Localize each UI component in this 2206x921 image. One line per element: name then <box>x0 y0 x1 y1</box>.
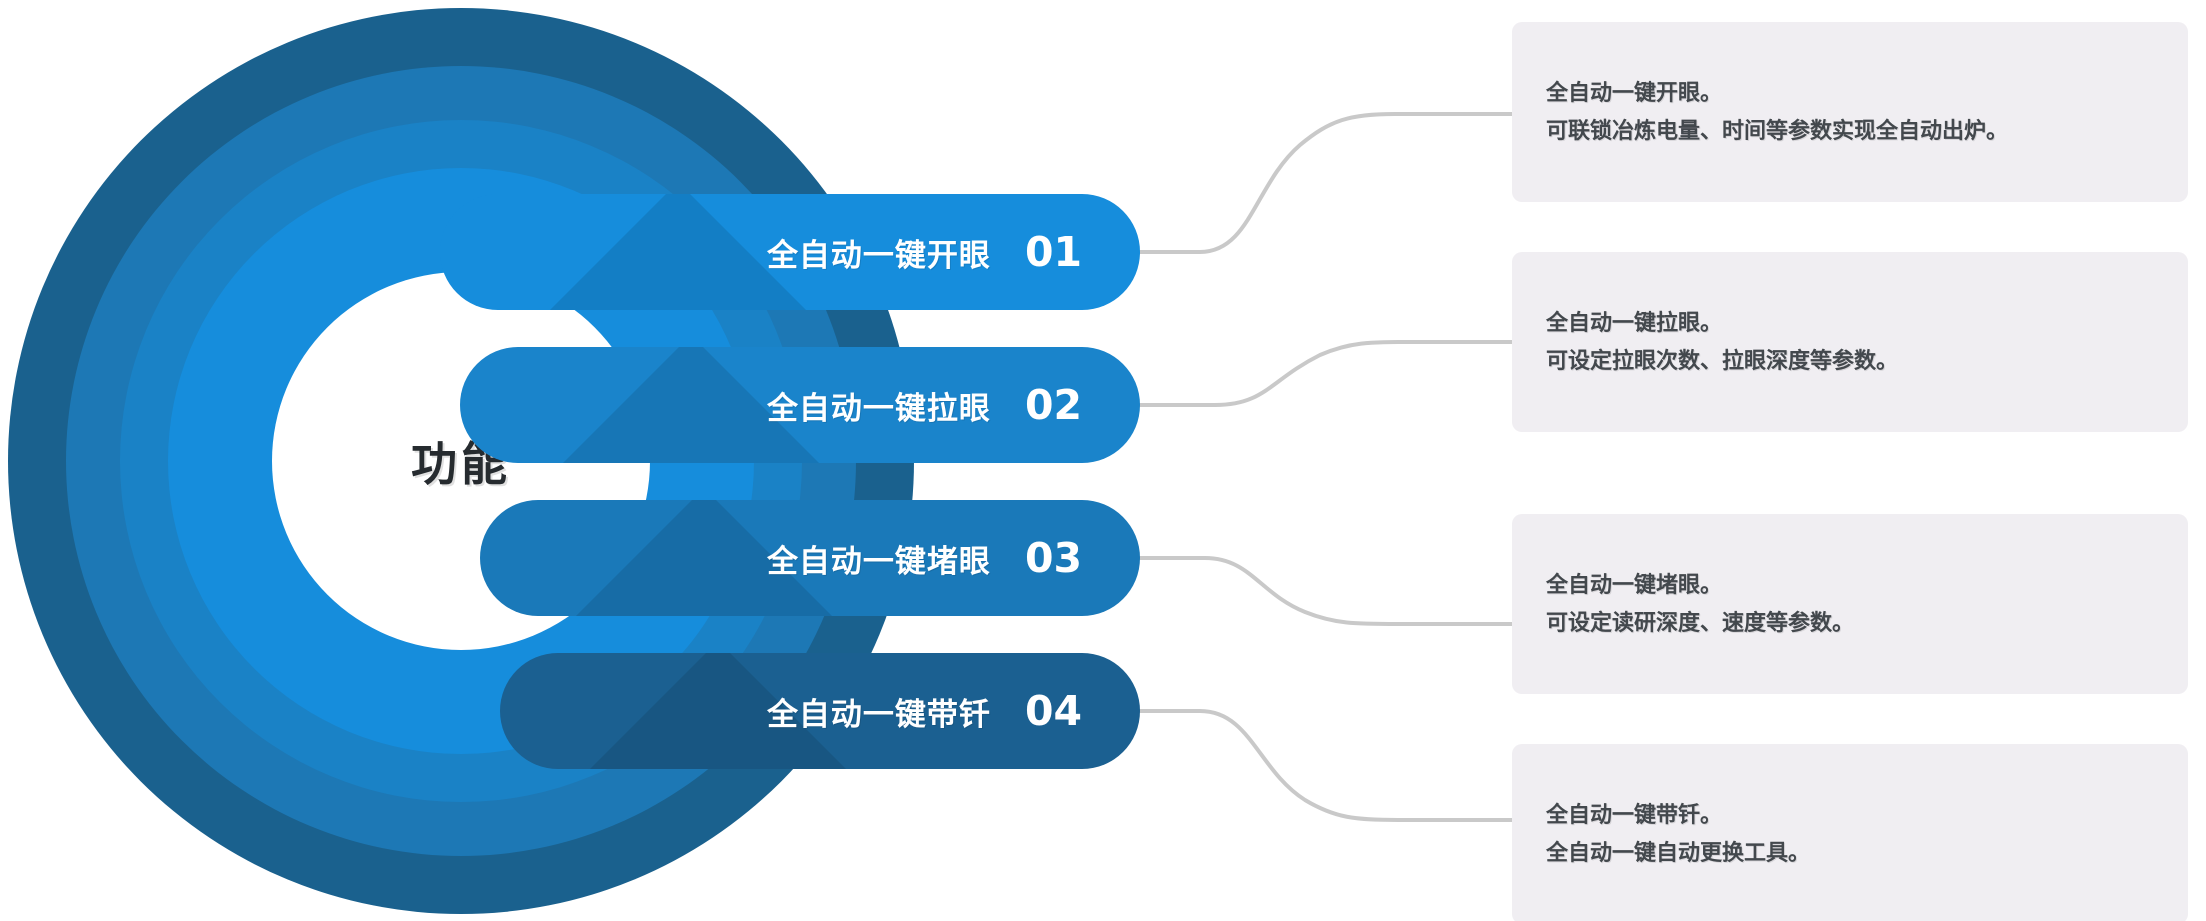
description-line: 全自动一键开眼。 <box>1546 74 2154 112</box>
description-card-01: 全自动一键开眼。 可联锁冶炼电量、时间等参数实现全自动出炉。 <box>1512 22 2188 202</box>
connector-line-2 <box>1140 342 1512 405</box>
item-pill-04[interactable]: 全自动一键带钎 04 <box>500 653 1140 769</box>
pill-number: 03 <box>1025 534 1082 582</box>
description-line: 可设定读研深度、速度等参数。 <box>1546 604 2154 642</box>
connector-line-1 <box>1140 114 1512 252</box>
pill-title: 全自动一键拉眼 <box>767 383 991 428</box>
connector-line-4 <box>1140 711 1512 820</box>
description-line: 全自动一键堵眼。 <box>1546 566 2154 604</box>
pill-number: 02 <box>1025 381 1082 429</box>
pill-title: 全自动一键堵眼 <box>767 536 991 581</box>
pill-title: 全自动一键开眼 <box>767 230 991 275</box>
description-line: 可设定拉眼次数、拉眼深度等参数。 <box>1546 342 2154 380</box>
infographic-canvas: 功能 全自动一键开眼 01 全自动一键拉眼 02 全自动一键堵眼 03 全自动一… <box>0 0 2206 921</box>
description-line: 可联锁冶炼电量、时间等参数实现全自动出炉。 <box>1546 112 2154 150</box>
connector-line-3 <box>1140 558 1512 624</box>
description-card-02: 全自动一键拉眼。 可设定拉眼次数、拉眼深度等参数。 <box>1512 252 2188 432</box>
item-pill-03[interactable]: 全自动一键堵眼 03 <box>480 500 1140 616</box>
description-line: 全自动一键拉眼。 <box>1546 304 2154 342</box>
pill-number: 04 <box>1025 687 1082 735</box>
pill-title: 全自动一键带钎 <box>767 689 991 734</box>
item-pill-01[interactable]: 全自动一键开眼 01 <box>440 194 1140 310</box>
description-card-03: 全自动一键堵眼。 可设定读研深度、速度等参数。 <box>1512 514 2188 694</box>
item-pill-02[interactable]: 全自动一键拉眼 02 <box>460 347 1140 463</box>
description-card-04: 全自动一键带钎。 全自动一键自动更换工具。 <box>1512 744 2188 921</box>
description-line: 全自动一键带钎。 <box>1546 796 2154 834</box>
description-line: 全自动一键自动更换工具。 <box>1546 834 2154 872</box>
pill-number: 01 <box>1025 228 1082 276</box>
